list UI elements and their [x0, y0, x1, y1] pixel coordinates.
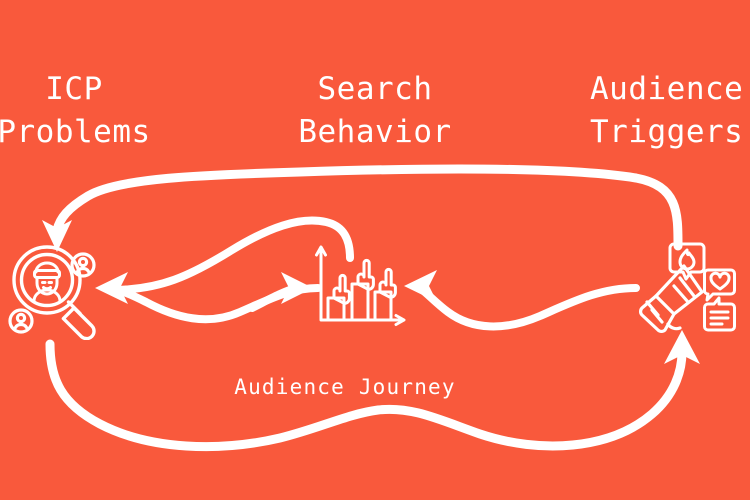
- footer-label-audience-journey: Audience Journey: [190, 373, 500, 402]
- megaphone-social-bubbles-icon: [628, 240, 736, 338]
- node-label-search: Search Behavior: [255, 68, 495, 154]
- magnifier-persona-icon: [2, 236, 106, 340]
- connector-triggers-to-search: [404, 270, 636, 326]
- node-label-icp: ICP Problems: [0, 68, 184, 154]
- bar-chart-pointing-hands-icon: [312, 240, 408, 332]
- diagram-canvas: ICP Problems Search Behavior Audience Tr…: [0, 0, 750, 500]
- arrowhead-left-chart: [404, 270, 437, 302]
- connector-arrow-into-chart: [252, 272, 313, 308]
- node-label-triggers: Audience Triggers: [590, 68, 750, 154]
